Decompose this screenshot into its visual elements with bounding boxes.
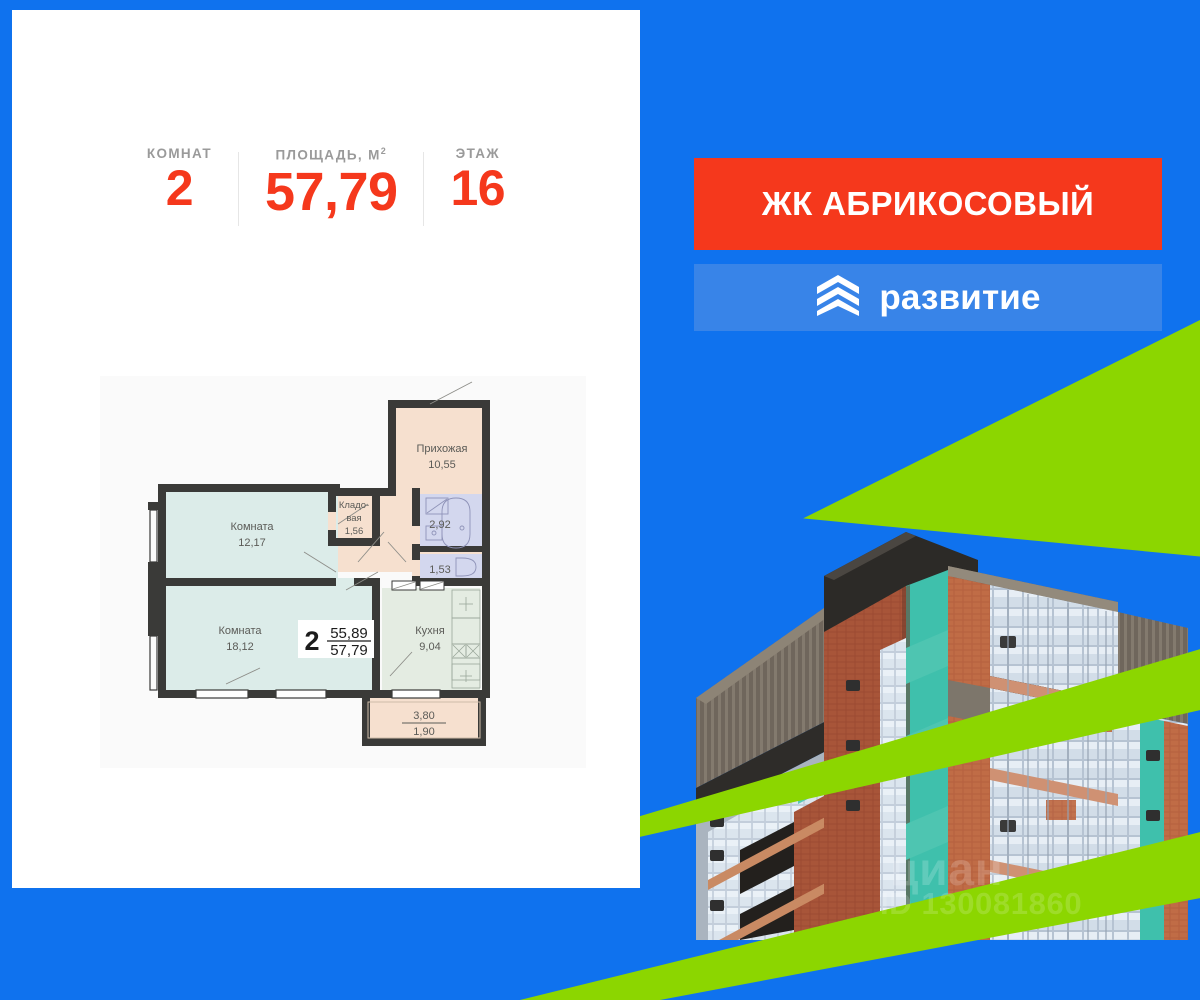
badge-rooms: 2: [304, 626, 319, 656]
developer-banner[interactable]: развитие: [694, 264, 1162, 331]
wc-area: 1,53: [429, 564, 450, 576]
plan-card: КОМНАТ 2 ПЛОЩАДЬ, М2 57,79 ЭТАЖ 16 .w{fi…: [12, 10, 640, 888]
stat-floor-label: ЭТАЖ: [456, 146, 500, 161]
stat-floor: ЭТАЖ 16: [424, 146, 531, 214]
listing-card-stage: циан ID 130081860 КОМНАТ 2 ПЛОЩАДЬ, М2 5…: [0, 0, 1200, 1000]
stats-row: КОМНАТ 2 ПЛОЩАДЬ, М2 57,79 ЭТАЖ 16: [12, 10, 640, 226]
hall-area: 10,55: [428, 459, 456, 471]
storage-label-line1: Кладо-: [339, 500, 369, 511]
room-label-1: Комната: [230, 521, 274, 533]
stat-area-label: ПЛОЩАДЬ, М2: [275, 146, 387, 163]
storage-area: 1,56: [345, 526, 364, 537]
stat-area-label-text: ПЛОЩАДЬ, М: [275, 148, 380, 163]
bathroom-area: 2,92: [429, 519, 450, 531]
hall-label: Прихожая: [417, 443, 468, 455]
balcony-area-counted: 1,90: [413, 726, 434, 738]
complex-name-banner[interactable]: ЖК АБРИКОСОВЫЙ: [694, 158, 1162, 250]
stat-area: ПЛОЩАДЬ, М2 57,79: [239, 146, 423, 220]
storage-label-line2: вая: [346, 513, 361, 524]
room-area-2: 18,12: [226, 641, 254, 653]
kitchen-label: Кухня: [415, 625, 444, 637]
stat-rooms-label: КОМНАТ: [147, 146, 212, 161]
developer-name-text: развитие: [879, 278, 1040, 318]
stat-area-superscript: 2: [381, 146, 387, 156]
badge-area-living: 55,89: [330, 625, 368, 642]
stat-rooms-value: 2: [166, 163, 193, 214]
room-label-2: Комната: [218, 625, 262, 637]
stat-floor-value: 16: [450, 163, 505, 214]
stat-area-value: 57,79: [265, 165, 397, 220]
triple-chevron-icon: [815, 270, 861, 325]
kitchen-area: 9,04: [419, 641, 440, 653]
floor-plan: .w{fill:#3a3a38} .mint{fill:#dcece9} .be…: [100, 376, 586, 768]
badge-area-total: 57,79: [330, 642, 368, 659]
balcony-area-full: 3,80: [413, 710, 434, 722]
room-area-1: 12,17: [238, 537, 266, 549]
area-badge: 2 55,89 57,79: [298, 620, 374, 659]
complex-name-text: ЖК АБРИКОСОВЫЙ: [762, 185, 1094, 223]
stat-rooms: КОМНАТ 2: [121, 146, 238, 214]
